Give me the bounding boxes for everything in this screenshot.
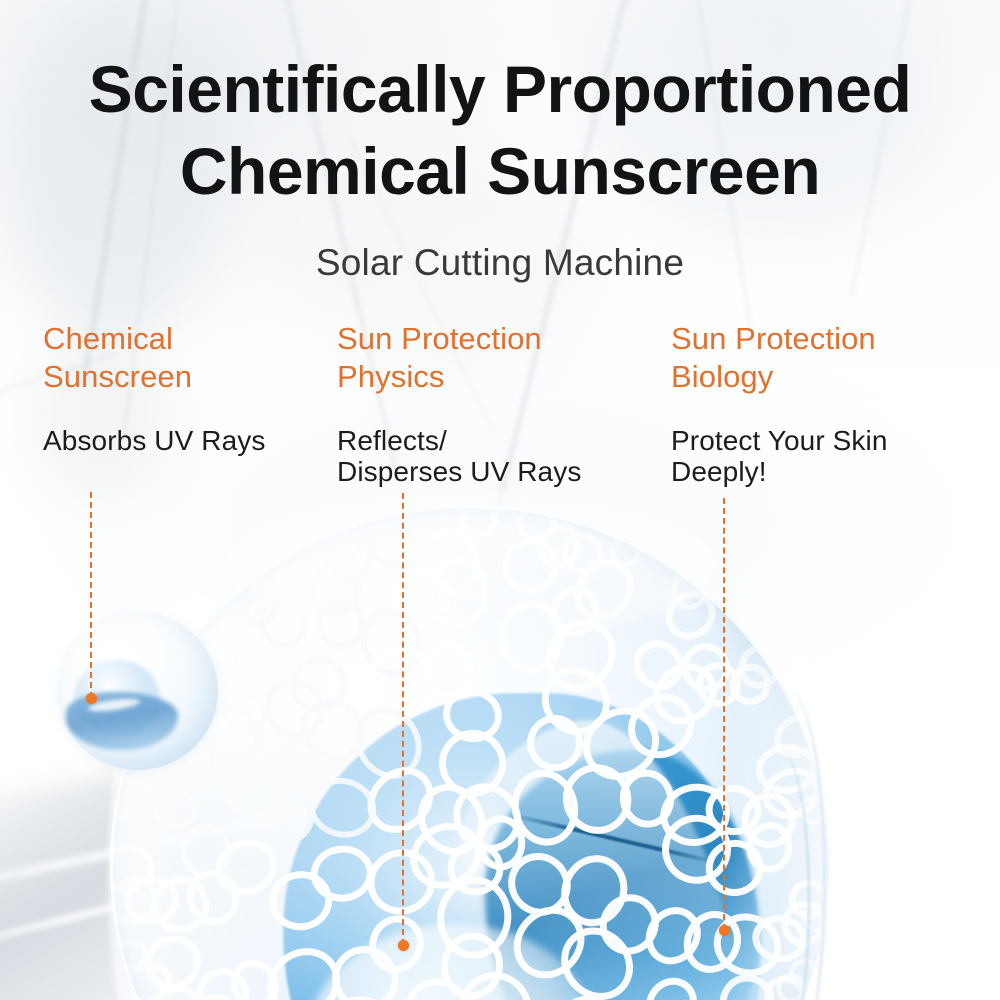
page-title-line-2: Chemical Sunscreen <box>0 130 1000 212</box>
feature-description: Absorbs UV Rays <box>43 425 333 456</box>
text-layer: Scientifically Proportioned Chemical Sun… <box>0 0 1000 1000</box>
feature-column-sun-protection-biology: Sun Protection Biology Protect Your Skin… <box>671 320 971 487</box>
feature-description: Reflects/ Disperses UV Rays <box>337 425 657 487</box>
sunscreen-product-banner: Scientifically Proportioned Chemical Sun… <box>0 0 1000 1000</box>
page-title-line-1: Scientifically Proportioned <box>0 48 1000 130</box>
feature-column-sun-protection-physics: Sun Protection Physics Reflects/ Dispers… <box>337 320 657 487</box>
feature-column-chemical-sunscreen: Chemical Sunscreen Absorbs UV Rays <box>43 320 333 456</box>
page-subtitle: Solar Cutting Machine <box>0 240 1000 286</box>
feature-heading: Sun Protection Physics <box>337 320 657 396</box>
feature-description: Protect Your Skin Deeply! <box>671 425 971 487</box>
feature-heading: Sun Protection Biology <box>671 320 971 396</box>
feature-heading: Chemical Sunscreen <box>43 320 333 396</box>
